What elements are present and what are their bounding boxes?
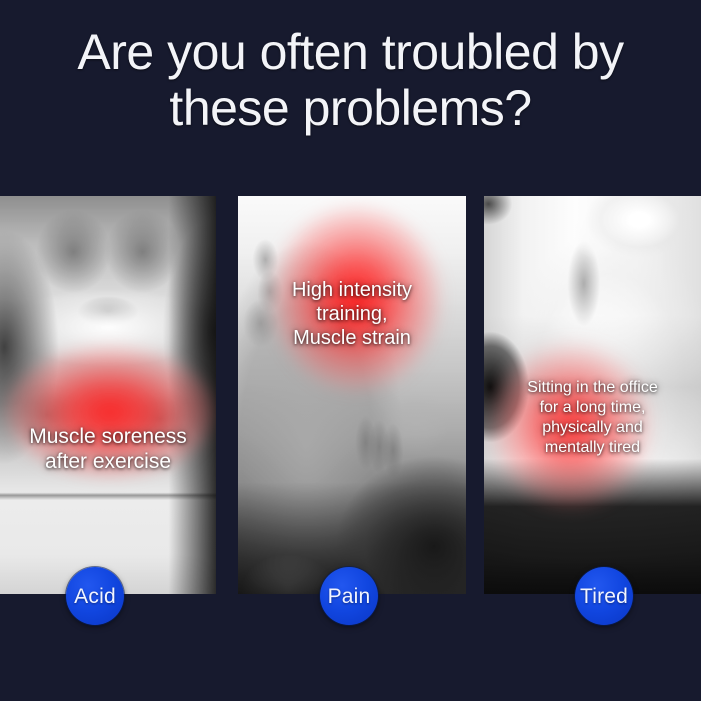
page-title: Are you often troubled by these problems… [0, 24, 701, 136]
badge-tired[interactable]: Tired [575, 567, 633, 625]
panel-strip: Muscle soreness after exercise High inte… [0, 196, 701, 594]
panel-caption: Sitting in the office for a long time, p… [484, 378, 701, 458]
promo-poster: Are you often troubled by these problems… [0, 0, 701, 701]
panel-pain[interactable]: High intensity training, Muscle strain [238, 196, 466, 594]
badge-acid[interactable]: Acid [66, 567, 124, 625]
badge-pain[interactable]: Pain [320, 567, 378, 625]
panel-tired[interactable]: Sitting in the office for a long time, p… [484, 196, 701, 594]
panel-caption: Muscle soreness after exercise [0, 424, 216, 474]
panel-acid[interactable]: Muscle soreness after exercise [0, 196, 216, 594]
panel-caption: High intensity training, Muscle strain [238, 278, 466, 350]
back-soreness-photo [0, 196, 216, 594]
knee-strain-photo [238, 196, 466, 594]
